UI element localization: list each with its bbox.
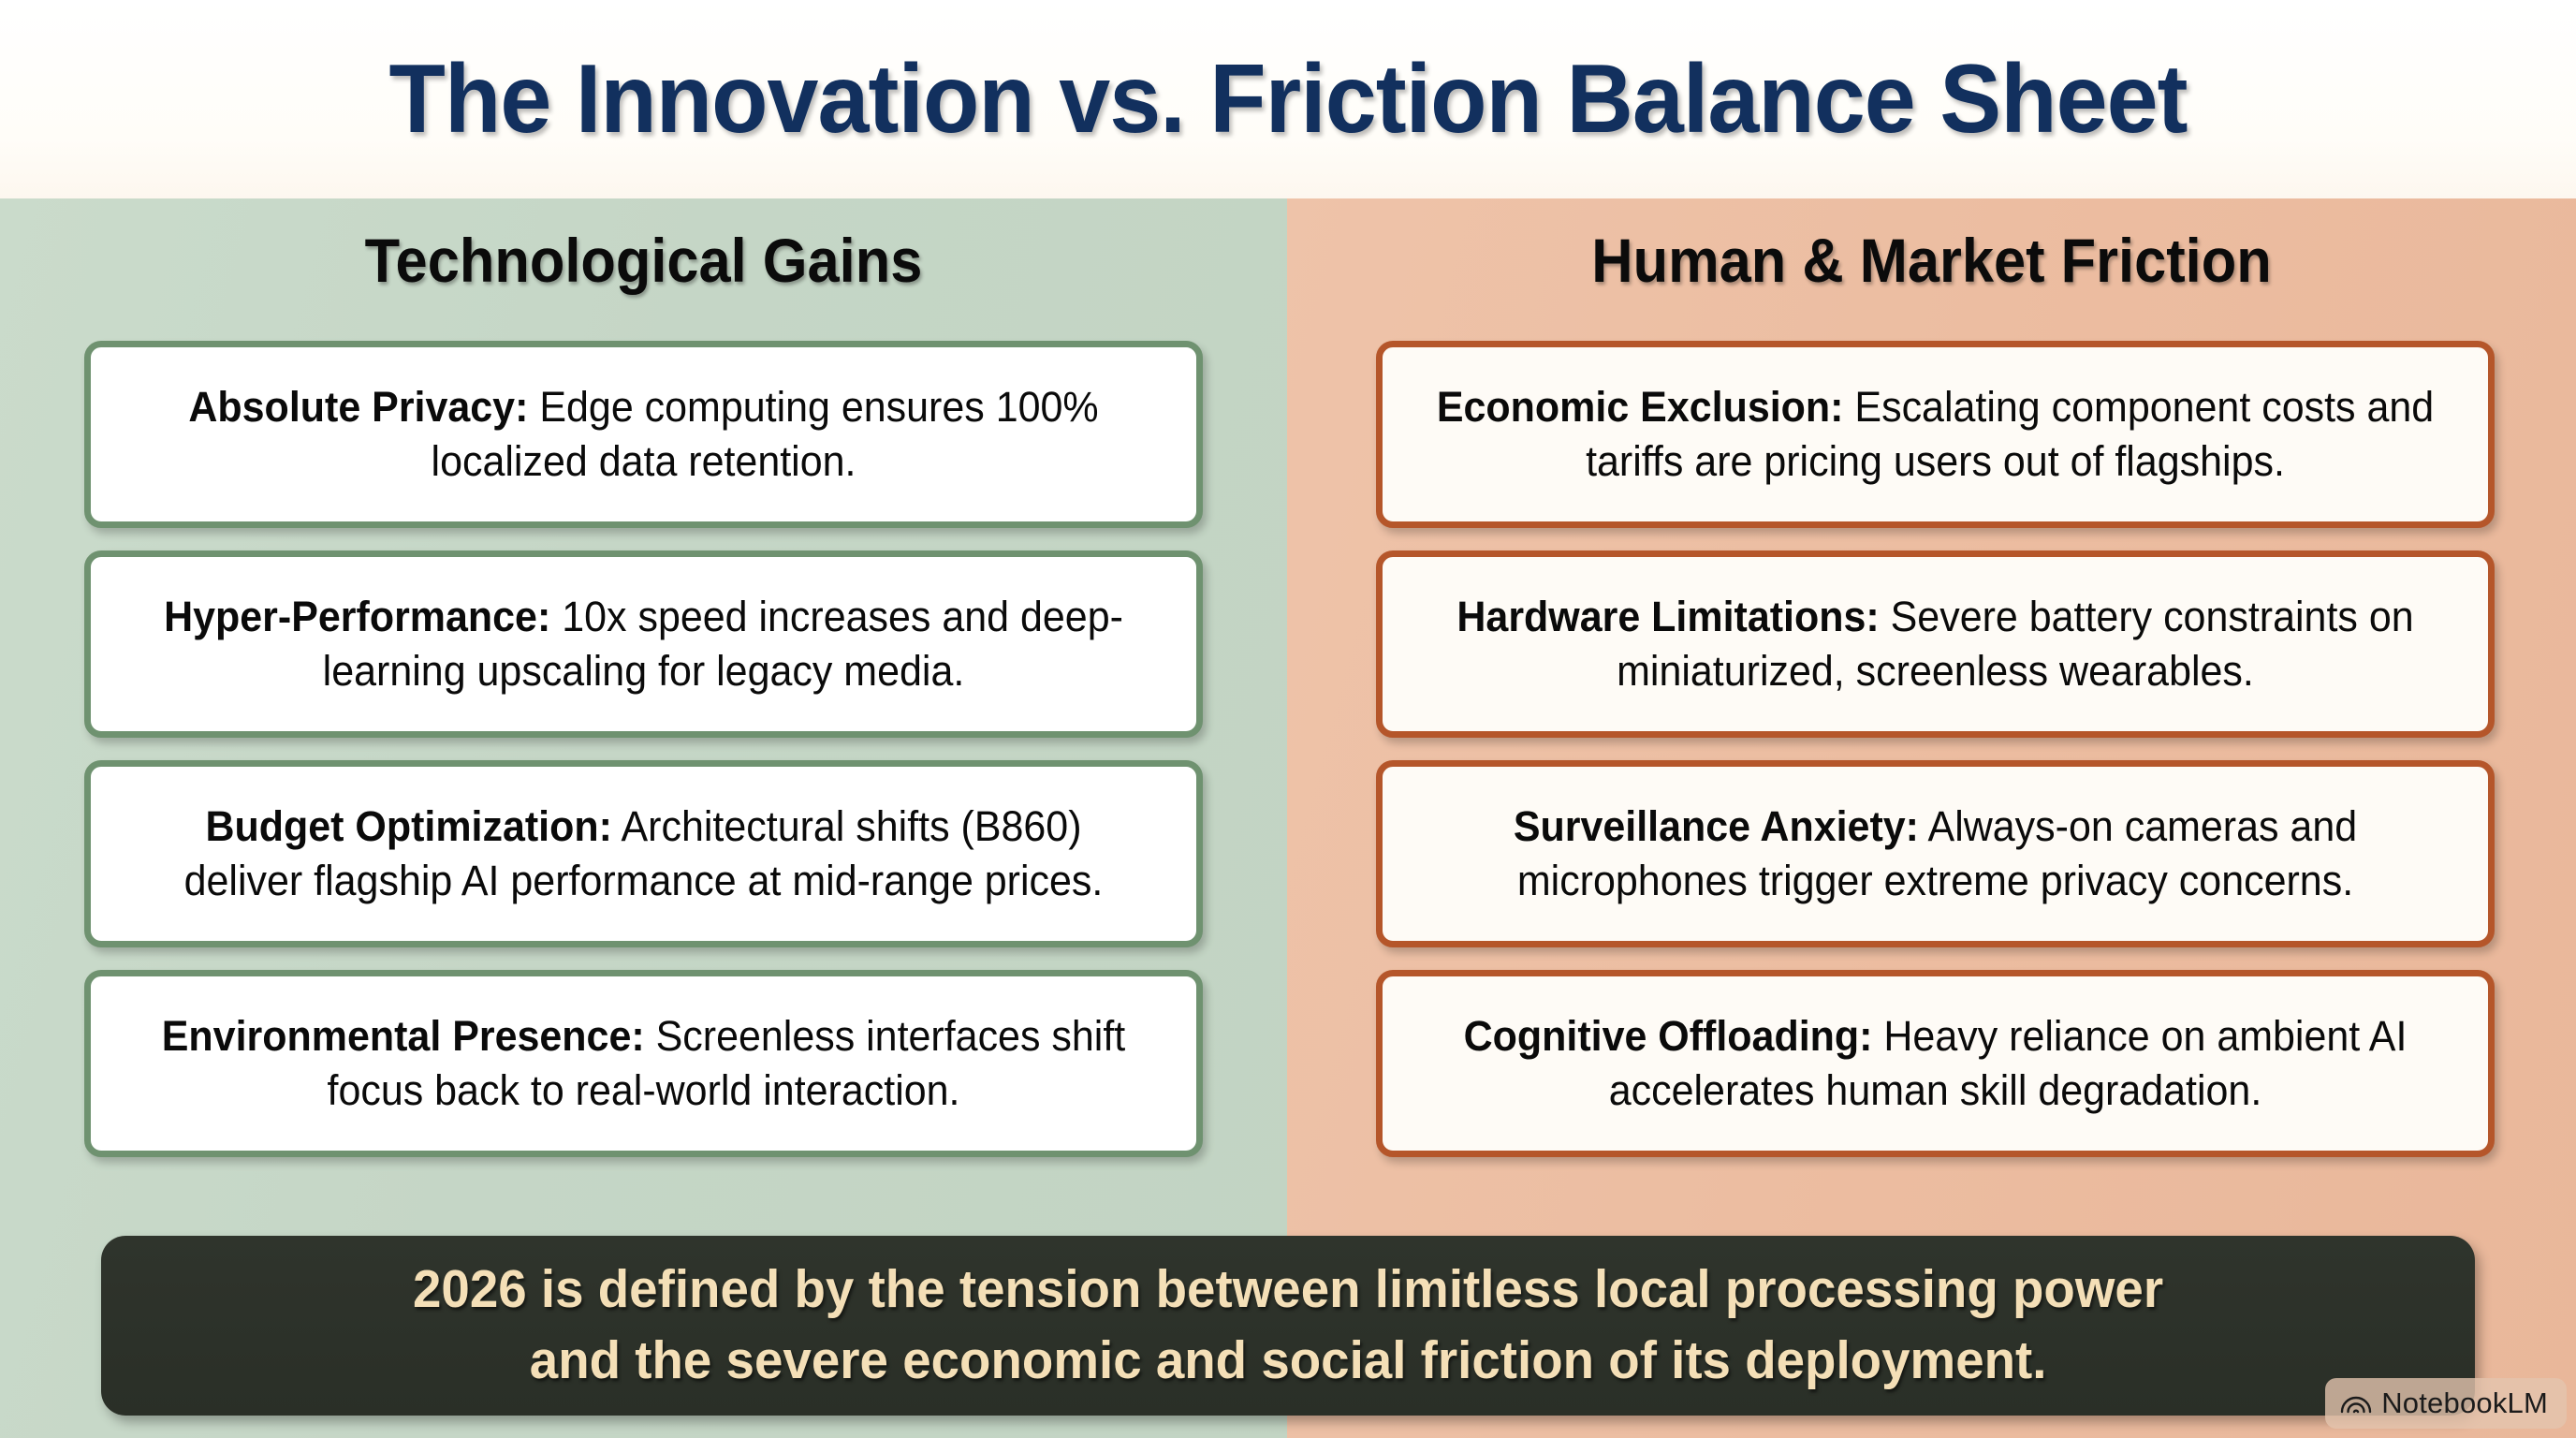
- summary-banner: 2026 is defined by the tension between l…: [101, 1236, 2475, 1416]
- page-title: The Innovation vs. Friction Balance Shee…: [389, 51, 2188, 148]
- card-text: Absolute Privacy: Edge computing ensures…: [140, 380, 1146, 490]
- card-hardware-limitations: Hardware Limitations: Severe battery con…: [1376, 550, 2495, 738]
- card-text: Economic Exclusion: Escalating component…: [1432, 380, 2437, 490]
- card-hyper-performance: Hyper-Performance: 10x speed increases a…: [84, 550, 1203, 738]
- infographic-poster: The Innovation vs. Friction Balance Shee…: [0, 0, 2576, 1438]
- card-text: Hyper-Performance: 10x speed increases a…: [140, 590, 1146, 699]
- card-term: Surveillance Anxiety:: [1514, 802, 1919, 850]
- card-term: Absolute Privacy:: [188, 383, 528, 431]
- card-text: Hardware Limitations: Severe battery con…: [1432, 590, 2437, 699]
- summary-line-1: 2026 is defined by the tension between l…: [413, 1255, 2163, 1326]
- card-text: Surveillance Anxiety: Always-on cameras …: [1432, 800, 2437, 909]
- notebooklm-label: NotebookLM: [2381, 1387, 2548, 1420]
- card-term: Hardware Limitations:: [1456, 593, 1879, 640]
- card-term: Economic Exclusion:: [1437, 383, 1844, 431]
- card-text: Budget Optimization: Architectural shift…: [140, 800, 1146, 909]
- card-budget-optimization: Budget Optimization: Architectural shift…: [84, 760, 1203, 947]
- left-column-header: Technological Gains: [45, 225, 1242, 296]
- card-term: Cognitive Offloading:: [1464, 1012, 1873, 1060]
- card-cognitive-offloading: Cognitive Offloading: Heavy reliance on …: [1376, 970, 2495, 1157]
- right-card-stack: Economic Exclusion: Escalating component…: [1376, 341, 2495, 1157]
- card-economic-exclusion: Economic Exclusion: Escalating component…: [1376, 341, 2495, 528]
- card-term: Hyper-Performance:: [164, 593, 550, 640]
- title-band: The Innovation vs. Friction Balance Shee…: [0, 0, 2576, 198]
- summary-line-2: and the severe economic and social frict…: [530, 1326, 2047, 1397]
- right-column-header: Human & Market Friction: [1332, 225, 2531, 296]
- card-absolute-privacy: Absolute Privacy: Edge computing ensures…: [84, 341, 1203, 528]
- left-card-stack: Absolute Privacy: Edge computing ensures…: [84, 341, 1203, 1157]
- card-term: Budget Optimization:: [205, 802, 611, 850]
- card-text: Environmental Presence: Screenless inter…: [140, 1009, 1146, 1119]
- card-surveillance-anxiety: Surveillance Anxiety: Always-on cameras …: [1376, 760, 2495, 947]
- card-environmental-presence: Environmental Presence: Screenless inter…: [84, 970, 1203, 1157]
- notebooklm-badge: NotebookLM: [2325, 1378, 2567, 1429]
- card-term: Environmental Presence:: [162, 1012, 645, 1060]
- card-description: Edge computing ensures 100% localized da…: [432, 383, 1099, 486]
- card-text: Cognitive Offloading: Heavy reliance on …: [1432, 1009, 2437, 1119]
- notebooklm-arc-icon: [2340, 1389, 2372, 1418]
